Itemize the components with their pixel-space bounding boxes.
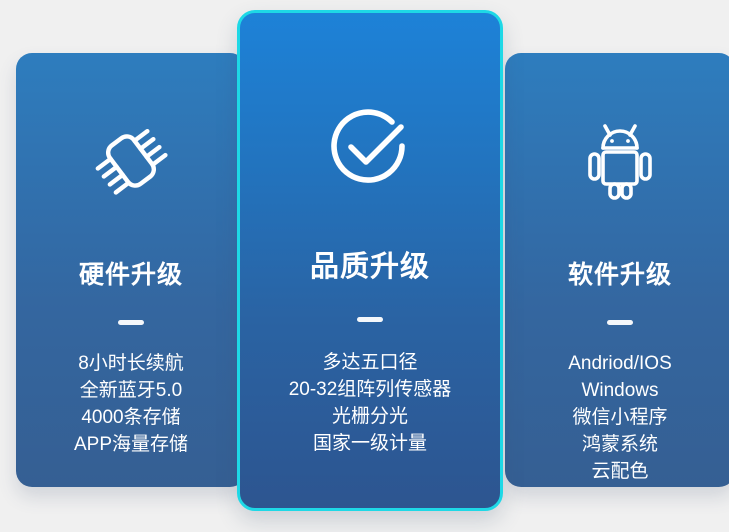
android-robot-icon bbox=[577, 111, 663, 211]
feature-item: 多达五口径 bbox=[289, 350, 452, 377]
feature-item: APP海量存储 bbox=[74, 432, 188, 459]
feature-list: 多达五口径 20-32组阵列传感器 光栅分光 国家一级计量 bbox=[289, 350, 452, 458]
feature-cards-panel: 硬件升级 8小时长续航 全新蓝牙5.0 4000条存储 APP海量存储 品质升级… bbox=[0, 0, 729, 532]
card-title: 软件升级 bbox=[568, 255, 672, 291]
card-title: 品质升级 bbox=[310, 243, 430, 285]
card-title: 硬件升级 bbox=[79, 255, 183, 291]
feature-item: 全新蓝牙5.0 bbox=[74, 378, 188, 405]
feature-item: 8小时长续航 bbox=[74, 351, 188, 378]
feature-item: 4000条存储 bbox=[74, 405, 188, 432]
title-divider bbox=[357, 317, 383, 322]
feature-item: 微信小程序 bbox=[568, 405, 672, 432]
feature-item: 光栅分光 bbox=[289, 404, 452, 431]
feature-list: Andriod/IOS Windows 微信小程序 鸿蒙系统 云配色 bbox=[568, 351, 672, 486]
feature-item: 20-32组阵列传感器 bbox=[289, 377, 452, 404]
title-divider bbox=[607, 320, 633, 325]
card-quality-upgrade[interactable]: 品质升级 多达五口径 20-32组阵列传感器 光栅分光 国家一级计量 bbox=[237, 10, 503, 511]
feature-list: 8小时长续航 全新蓝牙5.0 4000条存储 APP海量存储 bbox=[74, 351, 188, 459]
feature-item: 云配色 bbox=[568, 459, 672, 486]
feature-item: 鸿蒙系统 bbox=[568, 432, 672, 459]
feature-item: Windows bbox=[568, 378, 672, 405]
feature-item: Andriod/IOS bbox=[568, 351, 672, 378]
card-software-upgrade[interactable]: 软件升级 Andriod/IOS Windows 微信小程序 鸿蒙系统 云配色 bbox=[505, 53, 729, 487]
card-hardware-upgrade[interactable]: 硬件升级 8小时长续航 全新蓝牙5.0 4000条存储 APP海量存储 bbox=[16, 53, 246, 487]
feature-item: 国家一级计量 bbox=[289, 431, 452, 458]
title-divider bbox=[118, 320, 144, 325]
chip-icon bbox=[89, 111, 173, 211]
check-circle-icon bbox=[322, 91, 418, 201]
